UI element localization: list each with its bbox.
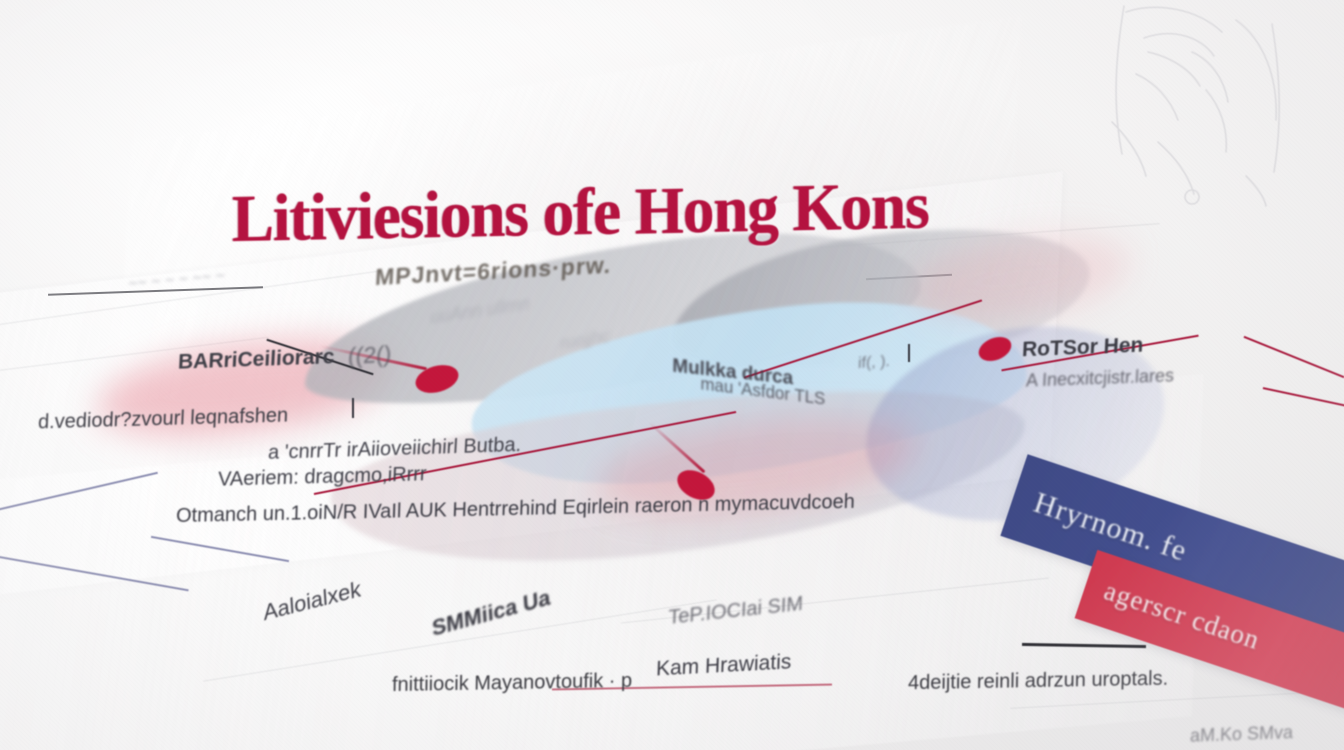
leader-line-red	[1244, 336, 1344, 378]
map-label-tep: TeP.IOCIai SIM	[668, 593, 803, 630]
tick-mark	[352, 398, 354, 418]
map-graphic	[268, 198, 1092, 601]
map-label-rotsor: RoTSor Hen	[1021, 334, 1143, 363]
pencil-sketch-icon	[1096, 0, 1326, 209]
poster-canvas: Litiviesions ofe Hong Kons MPJnvt=6rions…	[0, 0, 1344, 750]
rule-line-blue	[0, 555, 189, 592]
map-label-tiny: if(, ).	[858, 353, 891, 373]
leader-line	[1022, 643, 1146, 648]
rule-line	[1010, 692, 1310, 709]
footer-edge-text: aM.Ko SMva	[1190, 722, 1294, 747]
map-label-kam: Kam Hrawiatis	[656, 650, 792, 681]
tick-mark	[908, 344, 910, 362]
map-label-code: ((2()	[347, 341, 392, 370]
map-label-smmiica: SMMiica Ua	[431, 584, 551, 642]
rule-line-blue	[0, 472, 158, 514]
footer-text-left: fnittiiocik Mayanovtoufik · p	[392, 670, 632, 697]
footer-text-right: 4deijtie reinli adrzun uroptals.	[908, 668, 1169, 696]
page-title: Litiviesions ofe Hong Kons	[232, 167, 929, 258]
leader-line-red	[1263, 387, 1344, 407]
